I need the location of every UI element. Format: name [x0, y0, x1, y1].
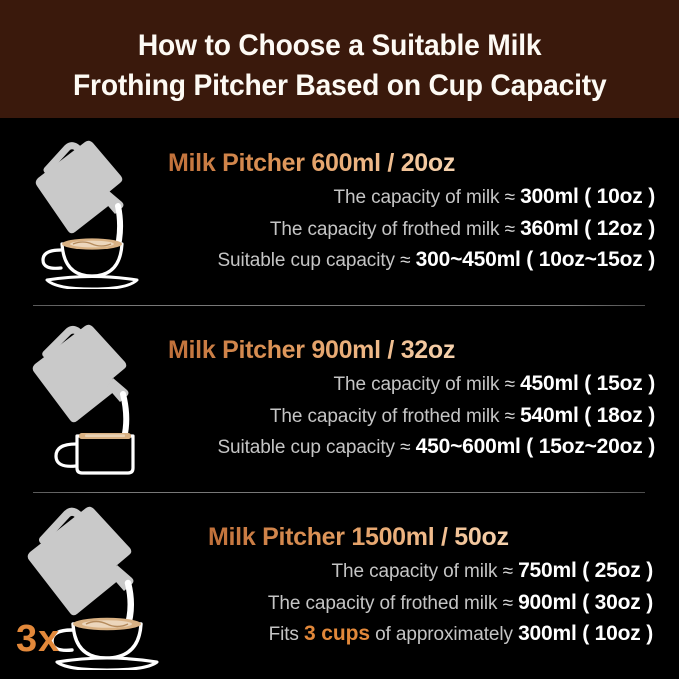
- spec-value: 300ml ( 10oz ): [520, 185, 655, 208]
- spec-line-cup-capacity-600: Suitable cup capacity ≈ 300~450ml ( 10oz…: [168, 244, 655, 276]
- spec-label: Suitable cup capacity: [217, 250, 394, 271]
- spec-accent-cups: 3 cups: [304, 622, 370, 645]
- spec-line-milk-capacity-600: The capacity of milk ≈ 300ml ( 10oz ): [168, 181, 655, 213]
- spec-value: 360ml ( 12oz ): [520, 217, 655, 240]
- spec-value: 300ml ( 10oz ): [518, 622, 653, 645]
- pitcher-title-900: Milk Pitcher 900ml / 32oz: [168, 334, 455, 366]
- approx-symbol: ≈: [400, 250, 410, 271]
- spec-line-frothed-capacity-900: The capacity of frothed milk ≈ 540ml ( 1…: [168, 400, 655, 432]
- multiplier-label: 3x: [16, 620, 60, 658]
- copy-pitcher-1500: Milk Pitcher 1500ml / 50oz The capacity …: [178, 521, 679, 651]
- copy-pitcher-900: Milk Pitcher 900ml / 32oz The capacity o…: [168, 334, 679, 464]
- section-divider-2: [33, 492, 645, 493]
- header-banner: How to Choose a Suitable Milk Frothing P…: [0, 0, 679, 118]
- spec-value: 450ml ( 15oz ): [520, 372, 655, 395]
- large-pitcher-pouring-into-cup-icon: 3x: [10, 500, 178, 672]
- spec-label-prefix: Fits: [269, 624, 304, 645]
- spec-value: 300~450ml ( 10oz~15oz ): [416, 248, 655, 271]
- spec-value: 750ml ( 25oz ): [518, 559, 653, 582]
- spec-value: 450~600ml ( 15oz~20oz ): [416, 435, 655, 458]
- spec-line-milk-capacity-1500: The capacity of milk ≈ 750ml ( 25oz ): [178, 555, 653, 587]
- approx-symbol: ≈: [505, 219, 515, 240]
- spec-label: The capacity of frothed milk: [270, 406, 500, 427]
- approx-symbol: ≈: [503, 561, 513, 582]
- spec-label: The capacity of milk: [333, 187, 499, 208]
- approx-symbol: ≈: [505, 374, 515, 395]
- spec-value: 540ml ( 18oz ): [520, 404, 655, 427]
- page-title-line-2: Frothing Pitcher Based on Cup Capacity: [73, 66, 606, 106]
- section-pitcher-1500: 3x Milk Pitcher 1500ml / 50oz The capaci…: [0, 492, 679, 679]
- approx-symbol: ≈: [505, 187, 515, 208]
- spec-label: The capacity of milk: [331, 561, 497, 582]
- approx-symbol: ≈: [505, 406, 515, 427]
- spec-label: The capacity of frothed milk: [270, 219, 500, 240]
- spec-line-milk-capacity-900: The capacity of milk ≈ 450ml ( 15oz ): [168, 368, 655, 400]
- section-divider-1: [33, 305, 645, 306]
- approx-symbol: ≈: [400, 437, 410, 458]
- spec-line-fits-cups-1500: Fits 3 cups of approximately 300ml ( 10o…: [178, 618, 653, 650]
- spec-line-frothed-capacity-600: The capacity of frothed milk ≈ 360ml ( 1…: [168, 213, 655, 245]
- section-pitcher-900: Milk Pitcher 900ml / 32oz The capacity o…: [0, 305, 679, 492]
- page-title-line-1: How to Choose a Suitable Milk: [138, 26, 541, 66]
- copy-pitcher-600: Milk Pitcher 600ml / 20oz The capacity o…: [168, 147, 679, 277]
- infographic-root: How to Choose a Suitable Milk Frothing P…: [0, 0, 679, 679]
- pitcher-title-600: Milk Pitcher 600ml / 20oz: [168, 147, 455, 179]
- pitcher-cup-illustration: [23, 134, 163, 289]
- section-pitcher-600: Milk Pitcher 600ml / 20oz The capacity o…: [0, 118, 679, 305]
- pitcher-mug-illustration: [23, 320, 163, 478]
- pitcher-pouring-into-mug-icon: [18, 319, 168, 479]
- spec-line-cup-capacity-900: Suitable cup capacity ≈ 450~600ml ( 15oz…: [168, 431, 655, 463]
- spec-label-suffix: of approximately: [370, 624, 518, 645]
- spec-label: The capacity of frothed milk: [268, 593, 498, 614]
- pitcher-title-1500: Milk Pitcher 1500ml / 50oz: [208, 521, 509, 553]
- pitcher-pouring-into-cup-icon: [18, 132, 168, 292]
- spec-line-frothed-capacity-1500: The capacity of frothed milk ≈ 900ml ( 3…: [178, 587, 653, 619]
- spec-label: Suitable cup capacity: [217, 437, 394, 458]
- approx-symbol: ≈: [503, 593, 513, 614]
- spec-value: 900ml ( 30oz ): [518, 591, 653, 614]
- spec-label: The capacity of milk: [333, 374, 499, 395]
- sections-container: Milk Pitcher 600ml / 20oz The capacity o…: [0, 118, 679, 679]
